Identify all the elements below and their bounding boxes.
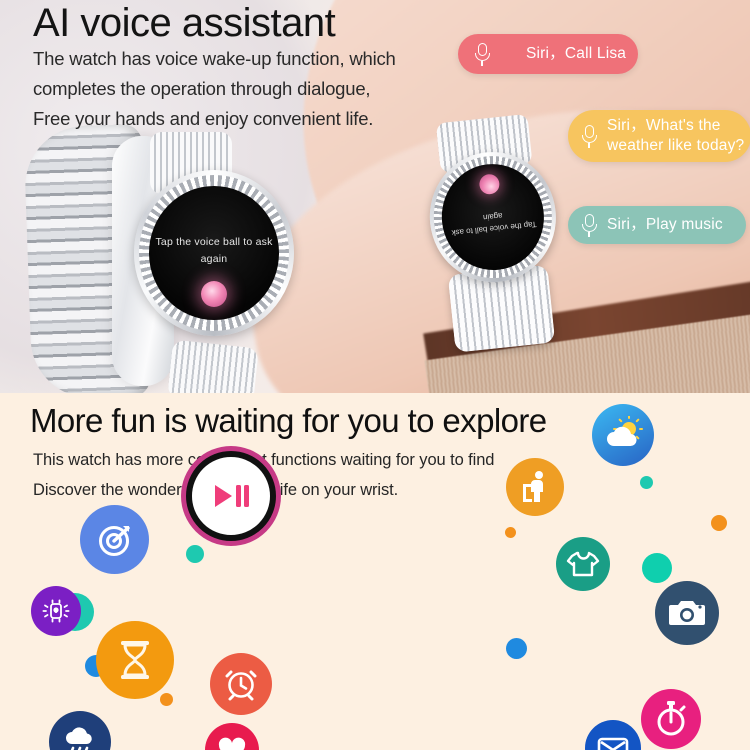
voice-ball-icon[interactable] <box>201 281 227 307</box>
sedentary-reminder-icon[interactable] <box>506 458 564 516</box>
decorative-dot <box>506 638 527 659</box>
rain-weather-icon[interactable] <box>49 711 111 750</box>
microphone-icon <box>581 125 598 148</box>
stopwatch-icon[interactable] <box>641 689 701 749</box>
watch-screen-text: Tap the voice ball to ask again <box>149 234 279 267</box>
page-title: AI voice assistant <box>33 2 463 44</box>
top-body-line-1: The watch has voice wake-up function, wh… <box>33 44 463 74</box>
message-icon[interactable] <box>585 720 641 750</box>
smartwatch-silver-product: Tap the voice ball to ask again <box>22 126 247 393</box>
decorative-dot <box>640 476 653 489</box>
voice-ball-icon[interactable] <box>478 173 500 195</box>
top-body-line-3: Free your hands and enjoy convenient lif… <box>33 104 463 134</box>
decorative-dot <box>186 545 204 563</box>
watch-band-link-bottom <box>167 340 259 393</box>
more-fun-panel: More fun is waiting for you to explore T… <box>0 393 750 750</box>
target-goal-icon[interactable] <box>80 505 149 574</box>
anti-lost-watch-icon[interactable] <box>31 586 81 636</box>
top-copy-block: AI voice assistant The watch has voice w… <box>33 2 463 134</box>
watch-case: Tap the voice ball to ask again <box>134 170 294 336</box>
voice-command-bubble-call[interactable]: Siri，Call Lisa <box>458 34 638 74</box>
voice-command-bubble-weather[interactable]: Siri，What's the weather like today? <box>568 110 750 162</box>
voice-command-text: Siri，What's the weather like today? <box>607 116 750 157</box>
decorative-dot <box>160 693 173 706</box>
decorative-dot <box>642 553 672 583</box>
heart-rate-icon[interactable] <box>205 723 259 750</box>
voice-command-text: Siri，Play music <box>607 215 723 235</box>
smartwatch-on-wrist: Tap the voice ball to ask again <box>406 144 585 350</box>
decorative-dot <box>505 527 516 538</box>
camera-remote-icon[interactable] <box>655 581 719 645</box>
decorative-dot <box>711 515 727 531</box>
product-marketing-page: AI voice assistant The watch has voice w… <box>0 0 750 750</box>
ai-voice-assistant-panel: AI voice assistant The watch has voice w… <box>0 0 750 393</box>
watch-screen: Tap the voice ball to ask again <box>149 186 279 320</box>
microphone-icon <box>474 43 491 66</box>
microphone-icon <box>581 214 598 237</box>
weather-icon[interactable] <box>592 404 654 466</box>
top-body-line-2: completes the operation through dialogue… <box>33 74 463 104</box>
media-play-pause-icon[interactable] <box>186 451 276 541</box>
wrist-watch-screen-text: Tap the voice ball to ask again <box>441 205 545 240</box>
hourglass-timer-icon[interactable] <box>96 621 174 699</box>
section-title: More fun is waiting for you to explore <box>30 402 546 440</box>
alarm-clock-icon[interactable] <box>210 653 272 715</box>
voice-command-text: Siri，Call Lisa <box>526 44 626 64</box>
voice-command-bubble-music[interactable]: Siri，Play music <box>568 206 746 244</box>
t-shirt-icon[interactable] <box>556 537 610 591</box>
